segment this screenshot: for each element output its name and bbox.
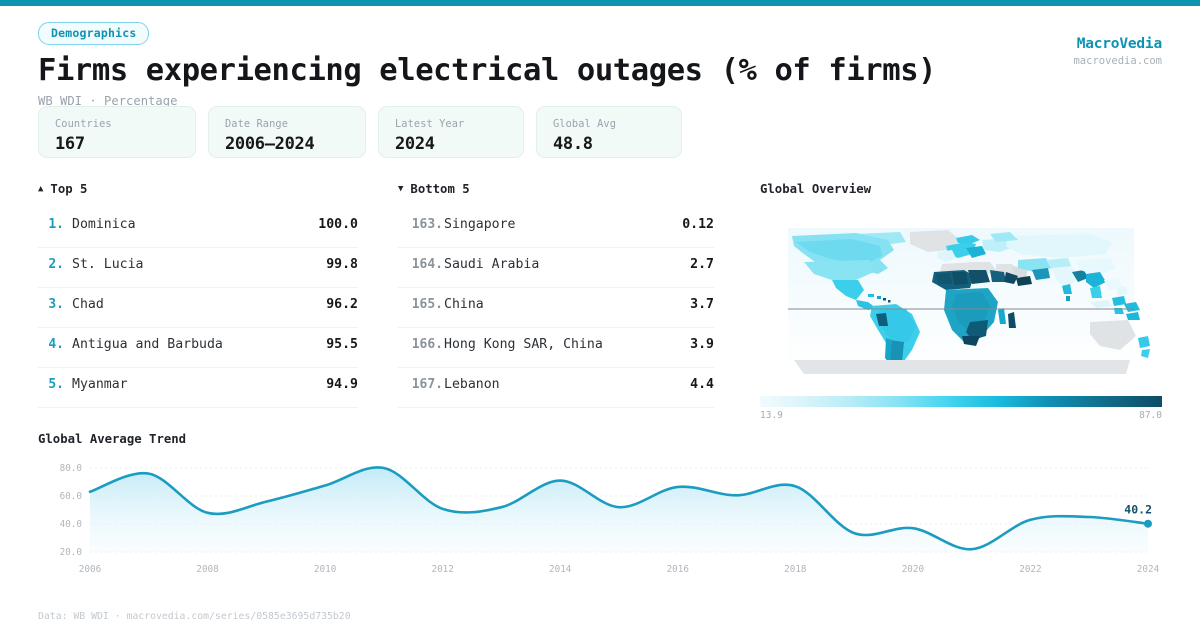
- brand-url: macrovedia.com: [1073, 55, 1162, 67]
- country-name: Hong Kong SAR, China: [444, 337, 690, 352]
- list-item[interactable]: 163. Singapore 0.12: [398, 208, 714, 248]
- top-accent-bar: [0, 0, 1200, 6]
- metric-value: 3.9: [690, 337, 714, 352]
- trend-heading-label: Global Average Trend: [38, 432, 186, 446]
- list-item[interactable]: 2. St. Lucia 99.8: [38, 248, 358, 288]
- metric-value: 0.12: [682, 217, 714, 232]
- list-item[interactable]: 3. Chad 96.2: [38, 288, 358, 328]
- country-name: Saudi Arabia: [444, 257, 690, 272]
- stat-card-date-range: Date Range 2006–2024: [208, 106, 366, 158]
- x-tick-label: 2020: [902, 564, 924, 575]
- chart-y-axis-labels: 80.060.040.020.0: [60, 463, 82, 558]
- x-tick-label: 2010: [314, 564, 336, 575]
- infographic-page: Demographics Firms experiencing electric…: [0, 0, 1200, 630]
- rank-number: 1.: [38, 217, 72, 232]
- country-name: China: [444, 297, 690, 312]
- brand: MacroVedia macrovedia.com: [1073, 36, 1162, 67]
- top-5-list: 1. Dominica 100.0 2. St. Lucia 99.8 3. C…: [38, 208, 358, 408]
- bottom-5-heading: ▼ Bottom 5: [398, 182, 714, 196]
- top-5-heading-label: Top 5: [50, 182, 87, 196]
- country-name: Singapore: [444, 217, 682, 232]
- country-name: Dominica: [72, 217, 318, 232]
- stat-value: 2024: [395, 134, 507, 154]
- country-name: Myanmar: [72, 377, 326, 392]
- country-name: Chad: [72, 297, 326, 312]
- stat-card-latest-year: Latest Year 2024: [378, 106, 524, 158]
- stat-label: Date Range: [225, 118, 349, 130]
- list-item[interactable]: 5. Myanmar 94.9: [38, 368, 358, 408]
- rank-number: 164.: [398, 257, 444, 272]
- metric-value: 96.2: [326, 297, 358, 312]
- metric-value: 94.9: [326, 377, 358, 392]
- stat-card-global-avg: Global Avg 48.8: [536, 106, 682, 158]
- global-overview-panel: Global Overview: [760, 182, 1162, 421]
- rank-number: 4.: [38, 337, 72, 352]
- rank-number: 3.: [38, 297, 72, 312]
- map-heading: Global Overview: [760, 182, 1162, 196]
- footer-source: Data: WB WDI · macrovedia.com/series/058…: [38, 611, 351, 622]
- chart-area-fill: [90, 467, 1148, 552]
- y-tick-label: 60.0: [60, 491, 82, 502]
- map-heading-label: Global Overview: [760, 182, 871, 196]
- list-item[interactable]: 165. China 3.7: [398, 288, 714, 328]
- category-badge[interactable]: Demographics: [38, 22, 149, 45]
- stat-card-countries: Countries 167: [38, 106, 196, 158]
- bottom-5-panel: ▼ Bottom 5 163. Singapore 0.12 164. Saud…: [398, 182, 714, 408]
- map-legend-labels: 13.9 87.0: [760, 410, 1162, 421]
- x-tick-label: 2022: [1019, 564, 1041, 575]
- triangle-down-icon: ▼: [398, 185, 403, 194]
- chart-x-axis-labels: 2006200820102012201420162018202020222024: [79, 564, 1160, 575]
- top-5-panel: ▲ Top 5 1. Dominica 100.0 2. St. Lucia 9…: [38, 182, 358, 408]
- list-item[interactable]: 164. Saudi Arabia 2.7: [398, 248, 714, 288]
- rank-number: 166.: [398, 337, 444, 352]
- trend-panel: Global Average Trend 80.060.040.020.0 20…: [38, 432, 1162, 584]
- rank-number: 167.: [398, 377, 444, 392]
- x-tick-label: 2008: [196, 564, 218, 575]
- stat-value: 2006–2024: [225, 134, 349, 154]
- x-tick-label: 2016: [667, 564, 689, 575]
- rank-number: 2.: [38, 257, 72, 272]
- rank-number: 163.: [398, 217, 444, 232]
- y-tick-label: 40.0: [60, 519, 82, 530]
- x-tick-label: 2012: [431, 564, 453, 575]
- metric-value: 3.7: [690, 297, 714, 312]
- stat-label: Global Avg: [553, 118, 665, 130]
- list-item[interactable]: 4. Antigua and Barbuda 95.5: [38, 328, 358, 368]
- metric-value: 2.7: [690, 257, 714, 272]
- x-tick-label: 2018: [784, 564, 806, 575]
- stat-label: Countries: [55, 118, 179, 130]
- map-colorbar: [760, 396, 1162, 407]
- bottom-5-list: 163. Singapore 0.12 164. Saudi Arabia 2.…: [398, 208, 714, 408]
- stat-value: 167: [55, 134, 179, 154]
- stat-label: Latest Year: [395, 118, 507, 130]
- list-item[interactable]: 1. Dominica 100.0: [38, 208, 358, 248]
- triangle-up-icon: ▲: [38, 185, 43, 194]
- metric-value: 95.5: [326, 337, 358, 352]
- x-tick-label: 2014: [549, 564, 572, 575]
- legend-max-label: 87.0: [1139, 410, 1162, 421]
- rank-number: 5.: [38, 377, 72, 392]
- country-name: St. Lucia: [72, 257, 326, 272]
- brand-name: MacroVedia: [1073, 36, 1162, 52]
- global-average-trend-chart[interactable]: 80.060.040.020.0 20062008201020122014201…: [38, 456, 1162, 584]
- stat-card-row: Countries 167 Date Range 2006–2024 Lates…: [38, 106, 682, 158]
- page-title: Firms experiencing electrical outages (%…: [38, 53, 1162, 88]
- rank-number: 165.: [398, 297, 444, 312]
- list-item[interactable]: 166. Hong Kong SAR, China 3.9: [398, 328, 714, 368]
- y-tick-label: 20.0: [60, 547, 82, 558]
- y-tick-label: 80.0: [60, 463, 82, 474]
- list-item[interactable]: 167. Lebanon 4.4: [398, 368, 714, 408]
- metric-value: 100.0: [318, 217, 358, 232]
- header: Demographics Firms experiencing electric…: [38, 22, 1162, 108]
- top-5-heading: ▲ Top 5: [38, 182, 358, 196]
- country-name: Antigua and Barbuda: [72, 337, 326, 352]
- stat-value: 48.8: [553, 134, 665, 154]
- bottom-5-heading-label: Bottom 5: [410, 182, 469, 196]
- legend-min-label: 13.9: [760, 410, 783, 421]
- trend-heading: Global Average Trend: [38, 432, 1162, 446]
- trend-endpoint-label: 40.2: [1124, 503, 1152, 517]
- country-name: Lebanon: [444, 377, 690, 392]
- metric-value: 4.4: [690, 377, 714, 392]
- x-tick-label: 2006: [79, 564, 101, 575]
- metric-value: 99.8: [326, 257, 358, 272]
- x-tick-label: 2024: [1137, 564, 1160, 575]
- choropleth-map[interactable]: [760, 210, 1162, 390]
